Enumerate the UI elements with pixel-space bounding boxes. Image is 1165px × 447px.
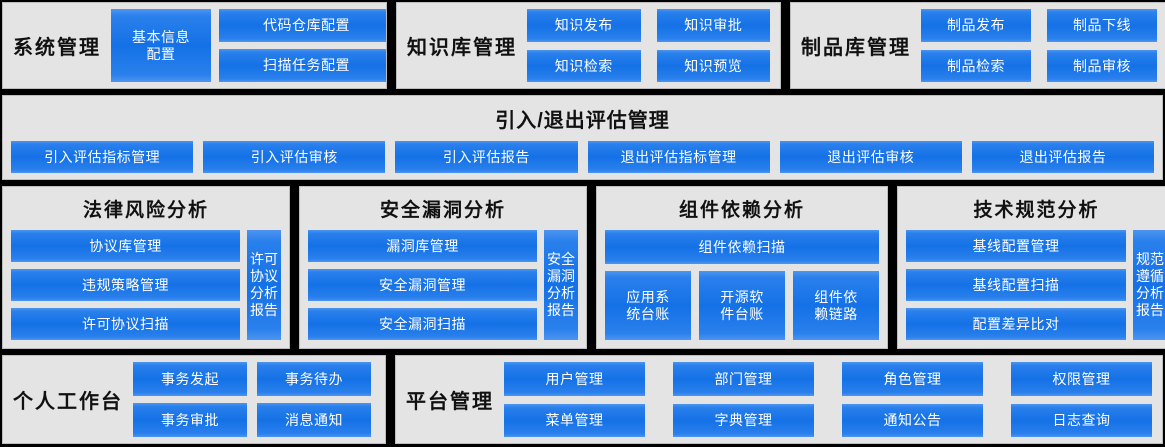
button-license-analysis-report[interactable]: 许可 协议 分析 报告	[247, 230, 281, 340]
panel-title-component-dependency-analysis: 组件依赖分析	[597, 187, 887, 226]
button-task-initiate[interactable]: 事务发起	[133, 362, 247, 396]
panel-title-technical-specification-analysis: 技术规范分析	[898, 187, 1165, 226]
label-line: 许可	[250, 251, 278, 268]
artifact-repository-buttons: 制品发布 制品下线 制品检索 制品审核	[921, 3, 1165, 88]
button-security-vulnerability-analysis-report[interactable]: 安全 漏洞 分析 报告	[544, 230, 578, 340]
dependency-bottom-row: 应用系 统台账 开源软 件台账 组件依 赖链路	[605, 271, 879, 340]
panel-platform-management: 平台管理 用户管理 部门管理 角色管理 权限管理 菜单管理 字典管理 通知公告 …	[395, 355, 1163, 444]
system-management-button-stack: 代码仓库配置 扫描任务配置	[219, 9, 387, 82]
platform-management-buttons: 用户管理 部门管理 角色管理 权限管理 菜单管理 字典管理 通知公告 日志查询	[504, 356, 1162, 443]
button-artifact-search[interactable]: 制品检索	[921, 50, 1031, 83]
button-menu-management[interactable]: 菜单管理	[504, 404, 645, 438]
panel-component-dependency-analysis: 组件依赖分析 组件依赖扫描 应用系 统台账 开源软 件台账 组件依 赖链路	[596, 186, 888, 349]
button-entry-eval-report[interactable]: 引入评估报告	[395, 141, 577, 173]
button-department-management[interactable]: 部门管理	[673, 362, 814, 396]
panel-title-legal-risk-analysis: 法律风险分析	[3, 187, 289, 226]
architecture-board: 系统管理 基本信息 配置 代码仓库配置 扫描任务配置 知识库管理 知识发布 知识…	[0, 0, 1165, 447]
button-entry-eval-indicator-management[interactable]: 引入评估指标管理	[11, 141, 193, 173]
button-specification-compliance-analysis-report[interactable]: 规范 遵循 分析 报告	[1133, 230, 1165, 340]
label-line: 报告	[1136, 302, 1164, 319]
button-exit-eval-report[interactable]: 退出评估报告	[972, 141, 1154, 173]
personal-workbench-buttons: 事务发起 事务待办 事务审批 消息通知	[133, 356, 385, 443]
label-line: 报告	[250, 302, 278, 319]
button-task-approval[interactable]: 事务审批	[133, 403, 247, 437]
button-open-source-software-ledger[interactable]: 开源软 件台账	[699, 271, 785, 340]
panel-title-entry-exit-evaluation: 引入/退出评估管理	[3, 100, 1162, 135]
button-message-notification[interactable]: 消息通知	[257, 403, 371, 437]
label-line: 分析	[547, 285, 575, 302]
button-permission-management[interactable]: 权限管理	[1011, 362, 1152, 396]
panel-security-vulnerability-analysis: 安全漏洞分析 漏洞库管理 安全漏洞管理 安全漏洞扫描 安全 漏洞 分析 报告	[299, 186, 587, 349]
button-security-vulnerability-management[interactable]: 安全漏洞管理	[308, 269, 537, 301]
label-line: 规范	[1136, 251, 1164, 268]
button-log-query[interactable]: 日志查询	[1011, 404, 1152, 438]
button-component-dependency-scan[interactable]: 组件依赖扫描	[605, 230, 879, 264]
evaluation-buttons: 引入评估指标管理 引入评估审核 引入评估报告 退出评估指标管理 退出评估审核 退…	[3, 135, 1162, 180]
button-entry-eval-review[interactable]: 引入评估审核	[203, 141, 385, 173]
row-top-modules: 系统管理 基本信息 配置 代码仓库配置 扫描任务配置 知识库管理 知识发布 知识…	[2, 2, 1163, 89]
label-line: 分析	[1136, 285, 1164, 302]
button-baseline-config-management[interactable]: 基线配置管理	[906, 230, 1126, 262]
button-basic-info-config[interactable]: 基本信息 配置	[111, 9, 211, 82]
panel-entry-exit-evaluation-management: 引入/退出评估管理 引入评估指标管理 引入评估审核 引入评估报告 退出评估指标管…	[2, 95, 1163, 180]
label-line: 遵循	[1136, 268, 1164, 285]
button-component-dependency-chain[interactable]: 组件依 赖链路	[793, 271, 879, 340]
button-application-system-ledger[interactable]: 应用系 统台账	[605, 271, 691, 340]
button-artifact-offline[interactable]: 制品下线	[1047, 9, 1157, 42]
vulnerability-main-buttons: 漏洞库管理 安全漏洞管理 安全漏洞扫描	[308, 230, 537, 340]
row-evaluation-management: 引入/退出评估管理 引入评估指标管理 引入评估审核 引入评估报告 退出评估指标管…	[2, 95, 1163, 180]
label-line: 协议	[250, 268, 278, 285]
technical-spec-main-buttons: 基线配置管理 基线配置扫描 配置差异比对	[906, 230, 1126, 340]
button-knowledge-search[interactable]: 知识检索	[527, 50, 641, 83]
dependency-top-row: 组件依赖扫描	[605, 230, 879, 264]
button-user-management[interactable]: 用户管理	[504, 362, 645, 396]
panel-title-platform-management: 平台管理	[396, 385, 504, 414]
button-vulnerability-library-management[interactable]: 漏洞库管理	[308, 230, 537, 262]
button-knowledge-approve[interactable]: 知识审批	[657, 9, 771, 42]
button-baseline-config-scan[interactable]: 基线配置扫描	[906, 269, 1126, 301]
button-exit-eval-review[interactable]: 退出评估审核	[780, 141, 962, 173]
button-knowledge-preview[interactable]: 知识预览	[657, 50, 771, 83]
button-role-management[interactable]: 角色管理	[842, 362, 983, 396]
panel-title-artifact-repository-management: 制品库管理	[791, 31, 921, 60]
button-notification-announcement[interactable]: 通知公告	[842, 404, 983, 438]
panel-artifact-repository-management: 制品库管理 制品发布 制品下线 制品检索 制品审核	[790, 2, 1165, 89]
panel-personal-workbench: 个人工作台 事务发起 事务待办 事务审批 消息通知	[2, 355, 386, 444]
button-task-todo[interactable]: 事务待办	[257, 362, 371, 396]
panel-title-system-management: 系统管理	[3, 31, 111, 60]
panel-legal-risk-analysis: 法律风险分析 协议库管理 违规策略管理 许可协议扫描 许可 协议 分析 报告	[2, 186, 290, 349]
button-violation-policy-management[interactable]: 违规策略管理	[11, 269, 240, 301]
button-security-vulnerability-scan[interactable]: 安全漏洞扫描	[308, 308, 537, 340]
panel-knowledge-base-management: 知识库管理 知识发布 知识审批 知识检索 知识预览	[396, 2, 781, 89]
button-license-agreement-scan[interactable]: 许可协议扫描	[11, 308, 240, 340]
row-bottom-modules: 个人工作台 事务发起 事务待办 事务审批 消息通知 平台管理 用户管理 部门管理…	[2, 355, 1163, 444]
button-license-library-management[interactable]: 协议库管理	[11, 230, 240, 262]
knowledge-base-buttons: 知识发布 知识审批 知识检索 知识预览	[527, 3, 780, 88]
label-line: 漏洞	[547, 268, 575, 285]
button-code-repo-config[interactable]: 代码仓库配置	[219, 9, 387, 42]
label-line: 分析	[250, 285, 278, 302]
button-artifact-publish[interactable]: 制品发布	[921, 9, 1031, 42]
button-exit-eval-indicator-management[interactable]: 退出评估指标管理	[588, 141, 770, 173]
button-config-difference-comparison[interactable]: 配置差异比对	[906, 308, 1126, 340]
system-management-buttons: 基本信息 配置 代码仓库配置 扫描任务配置	[111, 3, 387, 88]
row-analysis-modules: 法律风险分析 协议库管理 违规策略管理 许可协议扫描 许可 协议 分析 报告 安…	[2, 186, 1163, 349]
panel-system-management: 系统管理 基本信息 配置 代码仓库配置 扫描任务配置	[2, 2, 387, 89]
panel-title-knowledge-base-management: 知识库管理	[397, 31, 527, 60]
label-line: 安全	[547, 251, 575, 268]
legal-risk-main-buttons: 协议库管理 违规策略管理 许可协议扫描	[11, 230, 240, 340]
button-dictionary-management[interactable]: 字典管理	[673, 404, 814, 438]
button-scan-task-config[interactable]: 扫描任务配置	[219, 49, 387, 82]
panel-title-personal-workbench: 个人工作台	[3, 385, 133, 414]
button-artifact-audit[interactable]: 制品审核	[1047, 50, 1157, 83]
label-line: 报告	[547, 302, 575, 319]
panel-title-security-vulnerability-analysis: 安全漏洞分析	[300, 187, 586, 226]
panel-technical-specification-analysis: 技术规范分析 基线配置管理 基线配置扫描 配置差异比对 规范 遵循 分析 报告	[897, 186, 1165, 349]
button-knowledge-publish[interactable]: 知识发布	[527, 9, 641, 42]
